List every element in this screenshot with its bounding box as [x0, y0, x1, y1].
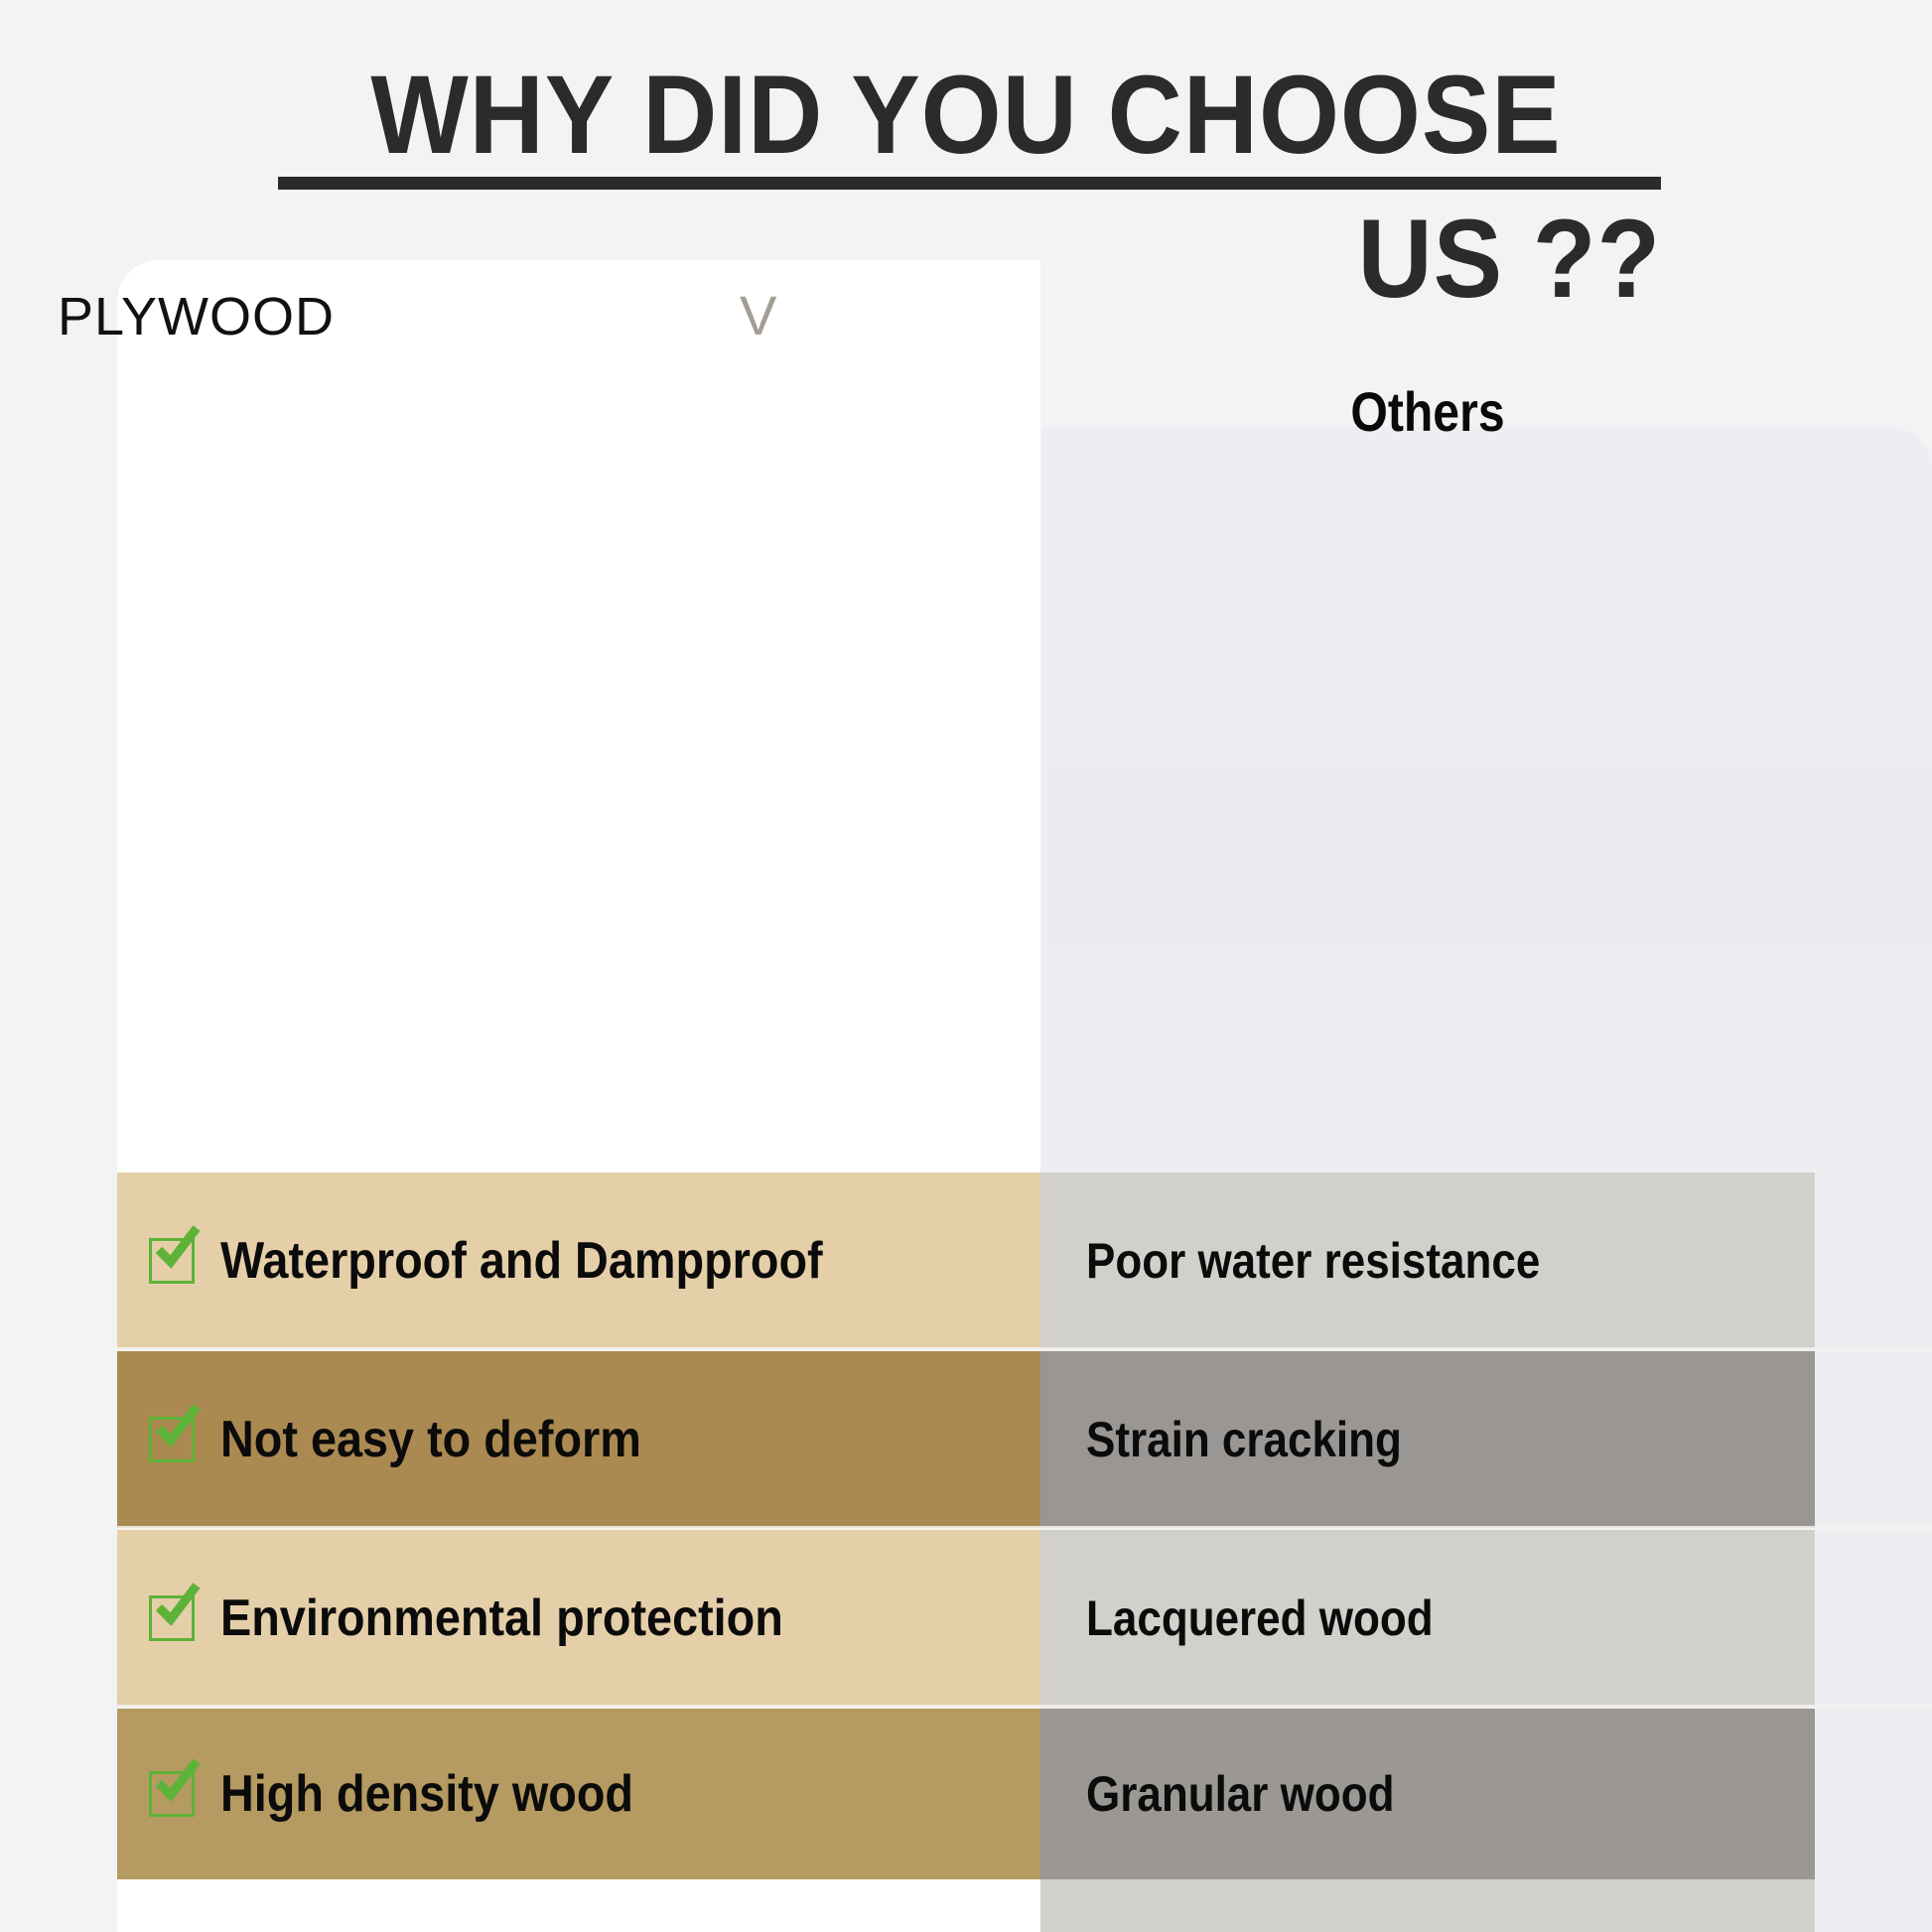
- others-label: Others: [1095, 379, 1761, 444]
- plywood-label: PLYWOOD: [58, 286, 335, 347]
- table-row: High density wood Granular wood: [117, 1709, 1932, 1879]
- others-feature-cell: Poor water resistance: [1040, 1173, 1815, 1349]
- plywood-feature-cell: High density wood: [117, 1709, 1040, 1879]
- plywood-feature-text: Environmental protection: [220, 1588, 783, 1648]
- plywood-feature-cell: Waterproof and Dampproof: [117, 1173, 1040, 1349]
- table-row: Waterproof and Dampproof Poor water resi…: [117, 1173, 1932, 1349]
- check-icon: [149, 1591, 203, 1645]
- table-row-partial: [117, 1879, 1932, 1932]
- plywood-feature-text: High density wood: [220, 1764, 633, 1824]
- others-feature-cell: Lacquered wood: [1040, 1530, 1815, 1707]
- plywood-feature-text: Waterproof and Dampproof: [220, 1231, 823, 1291]
- others-feature-text: Granular wood: [1086, 1765, 1394, 1823]
- title-underline-rule: [278, 177, 1661, 190]
- others-feature-cell: Strain cracking: [1040, 1351, 1815, 1528]
- check-icon: [149, 1767, 203, 1821]
- check-icon: [149, 1413, 203, 1466]
- page-title-line-1: WHY DID YOU CHOOSE: [320, 60, 1612, 171]
- check-icon: [149, 1234, 203, 1288]
- others-feature-cell: Granular wood: [1040, 1709, 1815, 1879]
- others-feature-text: Strain cracking: [1086, 1411, 1402, 1468]
- comparison-table: Waterproof and Dampproof Poor water resi…: [117, 1173, 1932, 1932]
- others-feature-text: Lacquered wood: [1086, 1589, 1434, 1647]
- particleboard-photo: [1047, 467, 1932, 943]
- table-row: Environmental protection Lacquered wood: [117, 1530, 1932, 1707]
- chevron-down-icon: V: [740, 283, 776, 347]
- plywood-card-footer: [117, 1879, 1040, 1932]
- plywood-feature-cell: Not easy to deform: [117, 1351, 1040, 1528]
- plywood-feature-cell: Environmental protection: [117, 1530, 1040, 1707]
- others-feature-cell-partial: [1040, 1879, 1815, 1932]
- others-feature-text: Poor water resistance: [1086, 1232, 1540, 1290]
- plywood-feature-text: Not easy to deform: [220, 1410, 641, 1469]
- plywood-photo: [117, 298, 1040, 943]
- table-row: Not easy to deform Strain cracking: [117, 1351, 1932, 1528]
- infographic-canvas: WHY DID YOU CHOOSE US ??: [0, 0, 1932, 1932]
